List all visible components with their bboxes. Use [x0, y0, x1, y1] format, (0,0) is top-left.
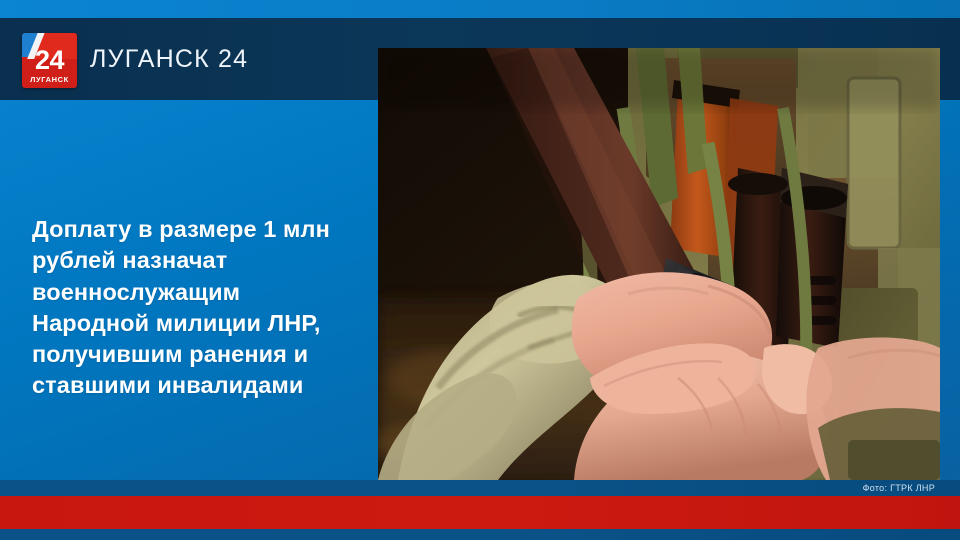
news-lower-third-card: 24 ЛУГАНСК ЛУГАНСК 24 Доплату в размере … — [0, 0, 960, 540]
logo-city-label: ЛУГАНСК — [22, 76, 77, 84]
photo-credit-label: Фото: ГТРК ЛНР — [863, 481, 935, 495]
luhansk-24-logo-icon: 24 ЛУГАНСК — [22, 33, 77, 88]
top-accent-strip — [0, 0, 960, 18]
bottom-red-band — [0, 496, 960, 529]
headline-text: Доплату в размере 1 млн рублей назначат … — [32, 214, 352, 402]
logo-number: 24 — [22, 47, 77, 74]
channel-name-label: ЛУГАНСК 24 — [90, 47, 248, 72]
bottom-blue-band-lower — [0, 529, 960, 540]
bottom-blue-band-upper — [0, 480, 960, 496]
news-photo — [378, 48, 940, 480]
